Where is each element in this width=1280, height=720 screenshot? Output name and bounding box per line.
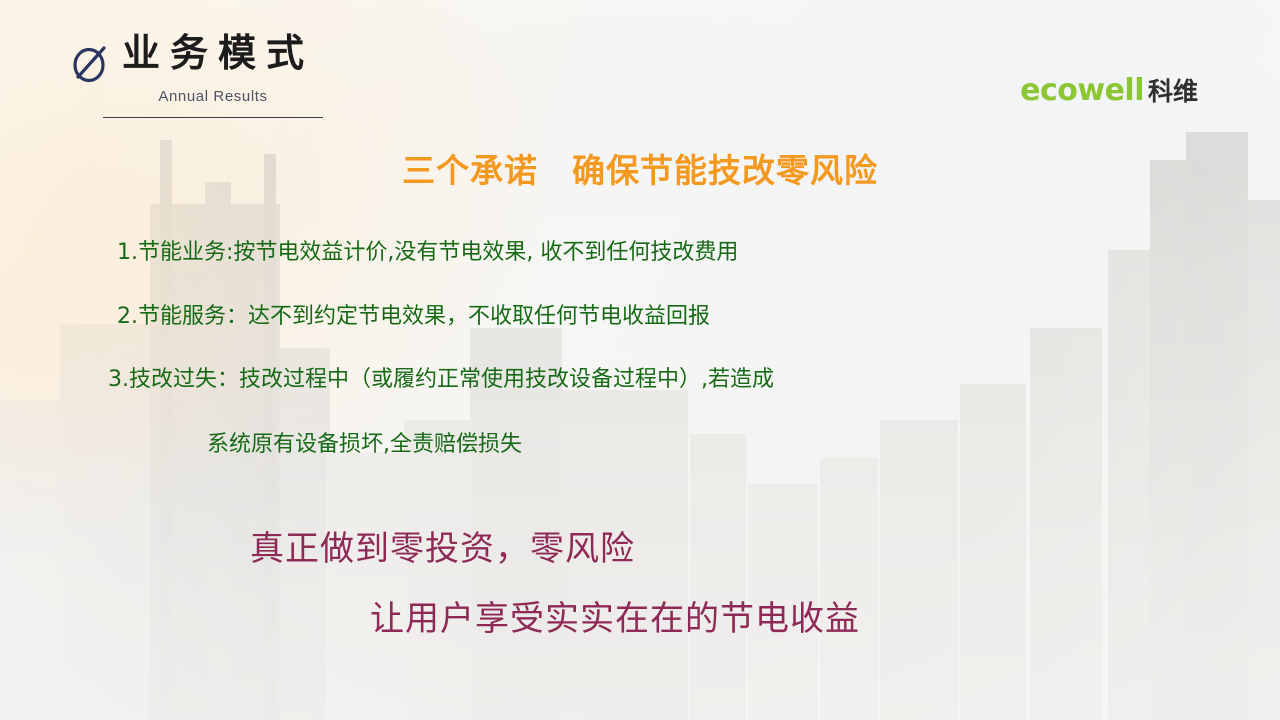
list-item: 3.技改过失：技改过程中（或履约正常使用技改设备过程中）,若造成	[108, 369, 774, 391]
list-item: 1.节能业务:按节电效益计价,没有节电效果, 收不到任何技改费用	[117, 242, 738, 264]
list-item: 2.节能服务：达不到约定节电效果，不收取任何节电收益回报	[117, 306, 710, 328]
list-item-continuation: 系统原有设备损坏,全责赔偿损失	[207, 434, 522, 456]
logo-wordmark-en: ecowell	[1020, 76, 1144, 106]
page-subtitle: Annual Results	[103, 88, 323, 105]
ecowell-logo: ecowell 科维	[1020, 76, 1198, 106]
slide-canvas: 业务模式 Annual Results ecowell 科维 三个承诺 确保节能…	[0, 0, 1280, 720]
slide-header: 业务模式 Annual Results ecowell 科维	[0, 0, 1280, 130]
content-headline: 三个承诺 确保节能技改零风险	[0, 144, 1280, 192]
closing-line: 真正做到零投资，零风险	[250, 532, 635, 566]
page-title: 业务模式	[122, 34, 314, 72]
header-divider	[103, 117, 323, 118]
slash-circle-icon	[70, 41, 112, 85]
logo-wordmark-cn: 科维	[1148, 79, 1198, 104]
closing-line: 让用户享受实实在在的节电收益	[370, 602, 860, 636]
